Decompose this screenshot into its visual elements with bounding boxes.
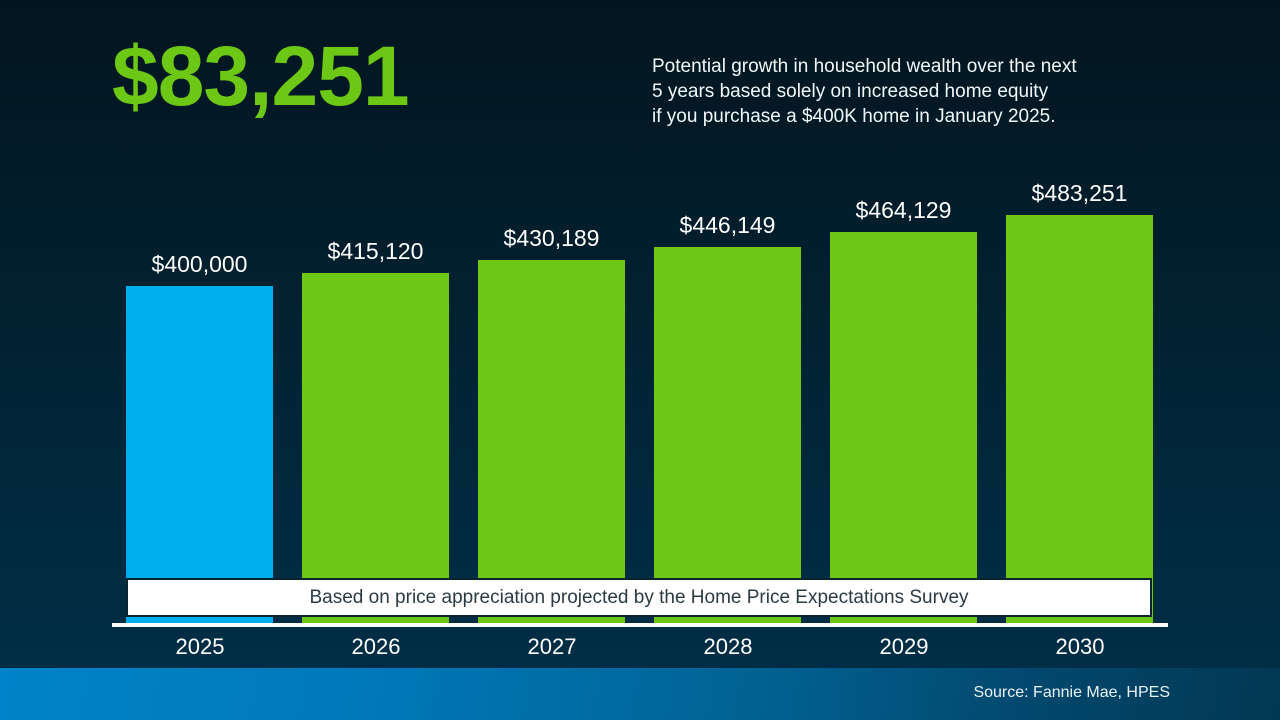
source-attribution: Source: Fannie Mae, HPES [973, 684, 1170, 702]
headline-amount: $83,251 [112, 34, 409, 118]
bar-column-2026: $415,120 [302, 180, 449, 625]
x-axis-line [112, 623, 1168, 627]
x-tick-2029: 2029 [816, 634, 992, 660]
x-tick-2027: 2027 [464, 634, 640, 660]
bar-2030 [1006, 215, 1153, 625]
description-line-2: 5 years based solely on increased home e… [652, 79, 1152, 104]
x-tick-2028: 2028 [640, 634, 816, 660]
bar-column-2025: $400,000 [126, 180, 273, 625]
bar-chart: $400,000 $415,120 $430,189 $446,149 $464… [112, 180, 1168, 625]
x-axis-tick-labels: 2025 2026 2027 2028 2029 2030 [112, 634, 1168, 668]
x-tick-2030: 2030 [992, 634, 1168, 660]
description-line-1: Potential growth in household wealth ove… [652, 54, 1152, 79]
bar-value-label: $483,251 [966, 180, 1193, 207]
methodology-banner: Based on price appreciation projected by… [126, 578, 1152, 617]
headline-description: Potential growth in household wealth ove… [652, 54, 1152, 129]
bar-column-2029: $464,129 [830, 180, 977, 625]
bar-2029 [830, 232, 977, 625]
bar-column-2030: $483,251 [1006, 180, 1153, 625]
x-tick-2026: 2026 [288, 634, 464, 660]
bar-2028 [654, 247, 801, 625]
x-tick-2025: 2025 [112, 634, 288, 660]
bar-2025 [126, 286, 273, 625]
description-line-3: if you purchase a $400K home in January … [652, 104, 1152, 129]
methodology-banner-text: Based on price appreciation projected by… [309, 587, 968, 609]
bar-column-2028: $446,149 [654, 180, 801, 625]
bar-2026 [302, 273, 449, 625]
bar-column-2027: $430,189 [478, 180, 625, 625]
bar-2027 [478, 260, 625, 625]
infographic-slide: $83,251 Potential growth in household we… [0, 0, 1280, 720]
